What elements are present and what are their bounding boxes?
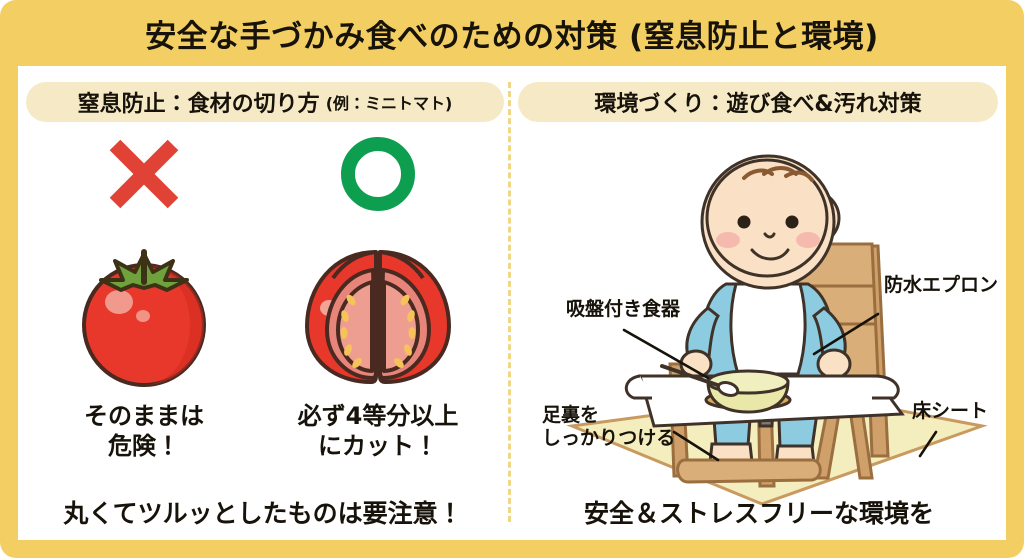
choice-unsafe-caption: そのままは 危険！ xyxy=(84,402,204,462)
annotation-suction-bowl: 吸盤付き食器 xyxy=(566,298,680,321)
page-title: 安全な手づかみ食べのための対策 (窒息防止と環境) xyxy=(145,11,879,56)
baby-eye-right xyxy=(786,216,799,229)
quartered-tomato-illustration xyxy=(293,218,463,390)
right-section-header: 環境づくり：遊び食べ&汚れ対策 xyxy=(518,82,998,122)
choice-safe-caption: 必ず4等分以上 にカット！ xyxy=(298,402,459,462)
right-section-footer: 安全＆ストレスフリーな環境を xyxy=(514,494,1004,530)
left-section-header-sub: (例：ミニトマト) xyxy=(326,90,453,114)
footrest xyxy=(678,460,821,482)
poster-title-bar: 安全な手づかみ食べのための対策 (窒息防止と環境) xyxy=(0,0,1024,66)
waterproof-bib xyxy=(731,284,805,374)
left-section-header-main: 窒息防止：食材の切り方 xyxy=(78,86,320,118)
infographic-poster: 安全な手づかみ食べのための対策 (窒息防止と環境) 窒息防止：食材の切り方 (例… xyxy=(0,0,1024,558)
left-section-footer: 丸くてツルッとしたものは要注意！ xyxy=(18,494,508,530)
section-divider xyxy=(508,82,511,522)
baby-in-high-chair-illustration xyxy=(512,126,1006,526)
left-section-header: 窒息防止：食材の切り方 (例：ミニトマト) xyxy=(26,82,504,122)
choice-unsafe: そのままは 危険！ xyxy=(36,130,252,470)
choice-safe: 必ず4等分以上 にカット！ xyxy=(270,130,486,470)
annotation-waterproof-apron: 防水エプロン xyxy=(884,274,998,297)
body-panel: 窒息防止：食材の切り方 (例：ミニトマト) 環境づくり：遊び食べ&汚れ対策 xyxy=(18,66,1006,540)
baby-eye-left xyxy=(738,216,751,229)
cross-mark-icon xyxy=(105,130,183,218)
left-panel: そのままは 危険！ xyxy=(18,130,508,540)
whole-cherry-tomato-illustration xyxy=(69,218,219,390)
circle-mark-icon xyxy=(339,130,417,218)
annotation-feet-placement: 足裏を しっかりつける xyxy=(542,404,675,450)
right-panel: 吸盤付き食器 防水エプロン 足裏を しっかりつける 床シート xyxy=(512,126,1006,541)
right-section-header-main: 環境づくり：遊び食べ&汚れ対策 xyxy=(594,86,921,118)
annotation-floor-sheet: 床シート xyxy=(912,400,988,423)
